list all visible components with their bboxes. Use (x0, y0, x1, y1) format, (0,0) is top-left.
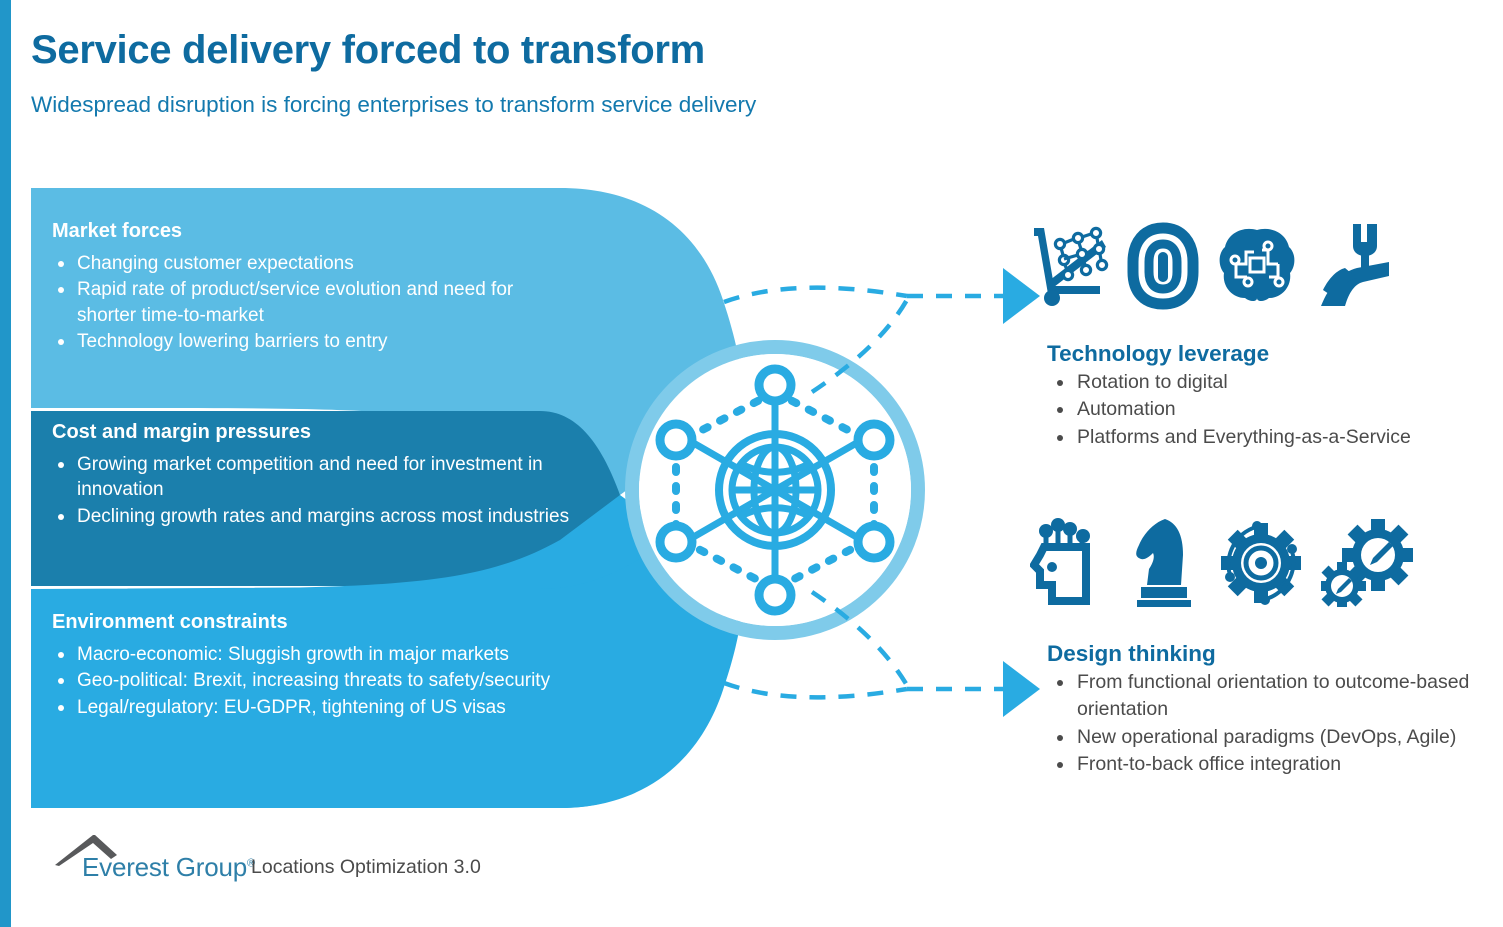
outcome-technology-leverage: Technology leverage Rotation to digital … (1047, 340, 1477, 451)
band-bullet-list: Changing customer expectations Rapid rat… (52, 251, 552, 354)
outcome-bullet-list: Rotation to digital Automation Platforms… (1047, 369, 1477, 451)
list-item: From functional orientation to outcome-b… (1047, 669, 1487, 724)
logo-name: Everest Group (82, 852, 247, 882)
arrow-head-bottom (1003, 661, 1040, 717)
gear-orbit-icon (1218, 515, 1304, 607)
everest-group-logo: Everest Group® (55, 832, 227, 884)
hand-wrench-icon (1315, 220, 1393, 310)
design-thinking-icon-row (1030, 515, 1430, 607)
band-bullet-list: Macro-economic: Sluggish growth in major… (52, 642, 622, 720)
digital-cart-icon (1030, 220, 1110, 310)
slide-canvas: Service delivery forced to transform Wid… (0, 0, 1503, 927)
list-item: Declining growth rates and margins acros… (52, 504, 572, 529)
list-item: Technology lowering barriers to entry (52, 329, 552, 354)
outcome-design-thinking: Design thinking From functional orientat… (1047, 640, 1487, 778)
outcome-heading: Design thinking (1047, 640, 1487, 667)
list-item: Legal/regulatory: EU-GDPR, tightening of… (52, 695, 622, 720)
band-heading: Environment constraints (52, 610, 622, 635)
list-item: Platforms and Everything-as-a-Service (1047, 424, 1477, 451)
head-neural-nodes-icon (1030, 515, 1108, 607)
list-item: Changing customer expectations (52, 251, 552, 276)
band-bullet-list: Growing market competition and need for … (52, 452, 572, 529)
list-item: Rapid rate of product/service evolution … (52, 277, 552, 328)
fingerprint-icon (1127, 220, 1199, 310)
outcome-bullet-list: From functional orientation to outcome-b… (1047, 669, 1487, 778)
gears-pen-icon (1321, 515, 1413, 607)
footer: Everest Group® Locations Optimization 3.… (55, 832, 481, 884)
band-market-forces: Market forces Changing customer expectat… (52, 219, 552, 355)
list-item: Macro-economic: Sluggish growth in major… (52, 642, 622, 667)
list-item: New operational paradigms (DevOps, Agile… (1047, 724, 1487, 751)
list-item: Geo-political: Brexit, increasing threat… (52, 668, 622, 693)
technology-leverage-icon-row (1030, 220, 1410, 310)
band-cost-and-margin-pressures: Cost and margin pressures Growing market… (52, 420, 572, 530)
list-item: Rotation to digital (1047, 369, 1477, 396)
logo-wordmark: Everest Group® (82, 852, 255, 883)
ai-brain-circuit-icon (1216, 220, 1298, 310)
list-item: Front-to-back office integration (1047, 751, 1487, 778)
chess-knight-icon (1125, 515, 1201, 607)
outcome-heading: Technology leverage (1047, 340, 1477, 367)
list-item: Automation (1047, 396, 1477, 423)
list-item: Growing market competition and need for … (52, 452, 572, 503)
band-heading: Cost and margin pressures (52, 420, 572, 445)
band-environment-constraints: Environment constraints Macro-economic: … (52, 610, 622, 721)
band-heading: Market forces (52, 219, 552, 244)
footer-label: Locations Optimization 3.0 (251, 856, 481, 879)
